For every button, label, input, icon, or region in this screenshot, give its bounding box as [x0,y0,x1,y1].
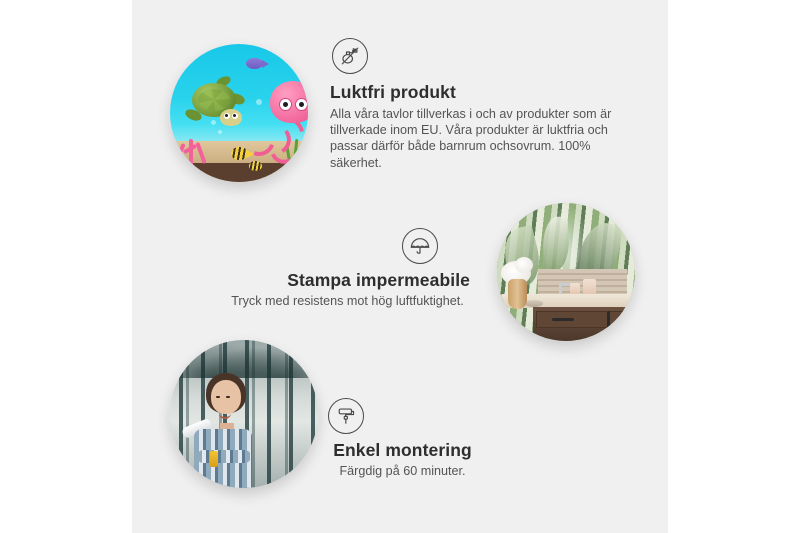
umbrella-icon [402,228,438,264]
no-spray-bottle-icon [332,38,368,74]
forest-canopy [170,340,318,378]
turtle-eye [232,113,238,119]
bubble [256,99,262,105]
octopus-head [270,81,308,123]
folded-arms [197,450,251,463]
striped-fish [231,147,248,160]
octopus-eye [295,98,308,111]
feature-description: Tryck med resistens mot hög luftfuktighe… [205,293,490,309]
woman-eye [216,396,220,398]
feature-description: Färgdig på 60 minuter. [300,463,505,479]
forest-scene [170,340,318,488]
paint-roller-icon-wrap [300,398,505,440]
paint-roller-icon [328,398,364,434]
bathroom-vanity-mural [497,203,635,341]
feature-title: Enkel montering [300,440,505,461]
flower-bouquet [515,257,533,273]
cabinet-handle [607,311,610,337]
bubble [218,130,222,134]
cabinet-handle [624,311,627,333]
octopus-eye [279,98,292,111]
feature-easy-mounting: Enkel montering Färgdig på 60 minuter. [300,398,505,479]
aquarium-scene [170,44,308,182]
vase [508,279,527,309]
coral-icon [173,133,213,167]
feature-title: Luktfri produkt [330,82,630,103]
bathroom-scene [497,203,635,341]
feature-description: Alla våra tavlor tillverkas i och av pro… [330,106,630,171]
feature-waterproof: Stampa impermeabile Tryck med resistens … [205,228,490,309]
feature-infographic: Luktfri produkt Alla våra tavlor tillver… [0,0,800,533]
decorator-forest-mural [170,340,318,488]
turtle-eye [224,113,230,119]
drawer-handle [552,318,574,321]
feature-odor-free: Luktfri produkt Alla våra tavlor tillver… [330,38,630,171]
striped-fish [249,161,262,171]
underwater-cartoon-mural [170,44,308,182]
turtle-head [220,109,242,126]
hand-tool [210,451,218,467]
cabinet-drawer [536,311,633,328]
purple-fish [246,58,263,69]
umbrella-icon-wrap [205,228,490,270]
feature-title: Stampa impermeabile [205,270,490,291]
